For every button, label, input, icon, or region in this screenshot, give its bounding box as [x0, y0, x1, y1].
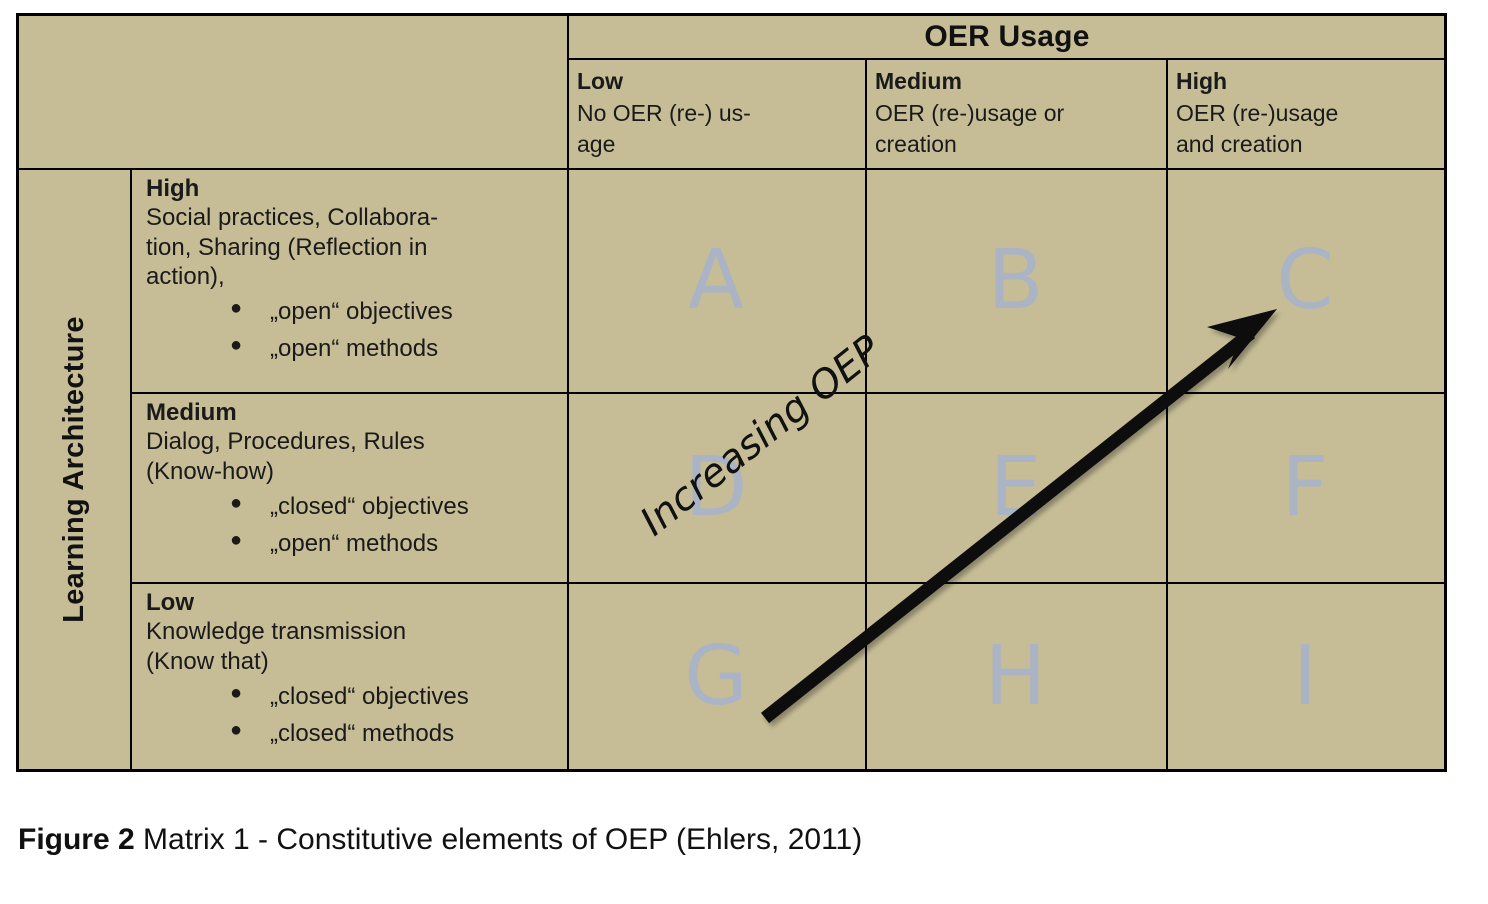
matrix-cell-a-label: A — [688, 240, 744, 322]
row-description-high: High Social practices, Collabora- tion, … — [132, 170, 567, 392]
row-low-line1: Knowledge transmission — [146, 617, 561, 646]
row-low-bullet-0: „closed“ objectives — [270, 683, 469, 710]
row-high-line2: tion, Sharing (Reflection in — [146, 233, 561, 262]
column-header-high-level: High — [1176, 66, 1436, 98]
row-low-level: Low — [146, 588, 561, 617]
column-header-medium: Medium OER (re-)usage or creation — [865, 64, 1166, 161]
row-medium-bullet-1: „open“ methods — [270, 530, 438, 557]
bullet-icon: ● — [230, 330, 242, 361]
matrix-cell-h[interactable]: H — [865, 584, 1166, 769]
bullet-icon: ● — [230, 525, 242, 556]
matrix-cell-d-label: D — [684, 447, 747, 529]
row-medium-bullet-0: „closed“ objectives — [270, 493, 469, 520]
matrix-cell-e[interactable]: E — [865, 394, 1166, 582]
matrix-cell-i[interactable]: I — [1166, 584, 1444, 769]
list-item: ● „open“ objectives — [146, 293, 561, 330]
figure-caption-text: Matrix 1 - Constitutive elements of OEP … — [135, 823, 863, 856]
row-high-line1: Social practices, Collabora- — [146, 203, 561, 232]
oep-matrix-table: OER Usage Low No OER (re-) us- age Mediu… — [16, 13, 1447, 772]
matrix-cell-a[interactable]: A — [567, 170, 865, 392]
matrix-cell-g-label: G — [684, 636, 748, 718]
row-high-bullet-list: ● „open“ objectives ● „open“ methods — [146, 293, 561, 367]
row-low-line2: (Know that) — [146, 647, 561, 676]
matrix-cell-e-label: E — [990, 447, 1042, 529]
column-axis-title: OER Usage — [567, 16, 1447, 58]
row-medium-line2: (Know-how) — [146, 457, 561, 486]
matrix-cell-c-label: C — [1276, 240, 1333, 322]
row-medium-bullet-list: ● „closed“ objectives ● „open“ methods — [146, 488, 561, 562]
column-header-low-desc-line2: age — [577, 129, 857, 161]
matrix-cell-h-label: H — [985, 636, 1047, 718]
column-header-low-desc-line1: No OER (re-) us- — [577, 98, 857, 130]
matrix-cell-d[interactable]: D — [567, 394, 865, 582]
bullet-icon: ● — [230, 293, 242, 324]
list-item: ● „open“ methods — [146, 525, 561, 562]
list-item: ● „open“ methods — [146, 330, 561, 367]
column-header-high-desc-line1: OER (re-)usage — [1176, 98, 1436, 130]
row-high-line3: action), — [146, 262, 561, 291]
row-axis-title-text: Learning Architecture — [58, 316, 91, 623]
list-item: ● „closed“ objectives — [146, 678, 561, 715]
row-low-bullet-1: „closed“ methods — [270, 720, 454, 747]
bullet-icon: ● — [230, 715, 242, 746]
column-header-high-desc-line2: and creation — [1176, 129, 1436, 161]
row-medium-line1: Dialog, Procedures, Rules — [146, 427, 561, 456]
rule-header-under-oer-usage — [567, 58, 1447, 60]
matrix-cell-f-label: F — [1281, 447, 1328, 529]
row-medium-level: Medium — [146, 398, 561, 427]
bullet-icon: ● — [230, 488, 242, 519]
row-high-bullet-1: „open“ methods — [270, 335, 438, 362]
matrix-cell-f[interactable]: F — [1166, 394, 1444, 582]
row-high-level: High — [146, 174, 561, 203]
figure-caption: Figure 2 Matrix 1 - Constitutive element… — [18, 823, 862, 857]
list-item: ● „closed“ methods — [146, 715, 561, 752]
column-header-medium-level: Medium — [875, 66, 1158, 98]
matrix-cell-c[interactable]: C — [1166, 170, 1444, 392]
row-low-bullet-list: ● „closed“ objectives ● „closed“ methods — [146, 678, 561, 752]
matrix-cell-b-label: B — [987, 240, 1043, 322]
column-header-low: Low No OER (re-) us- age — [567, 64, 865, 161]
column-header-high: High OER (re-)usage and creation — [1166, 64, 1444, 161]
row-high-bullet-0: „open“ objectives — [270, 298, 453, 325]
row-axis-title: Learning Architecture — [19, 170, 130, 769]
column-header-low-level: Low — [577, 66, 857, 98]
row-description-low: Low Knowledge transmission (Know that) ●… — [132, 584, 567, 769]
column-header-medium-desc-line2: creation — [875, 129, 1158, 161]
matrix-cell-b[interactable]: B — [865, 170, 1166, 392]
figure-root: OER Usage Low No OER (re-) us- age Mediu… — [0, 0, 1488, 904]
row-description-medium: Medium Dialog, Procedures, Rules (Know-h… — [132, 394, 567, 582]
figure-caption-label: Figure 2 — [18, 823, 135, 856]
matrix-cell-g[interactable]: G — [567, 584, 865, 769]
column-header-medium-desc-line1: OER (re-)usage or — [875, 98, 1158, 130]
bullet-icon: ● — [230, 678, 242, 709]
matrix-cell-i-label: I — [1293, 636, 1317, 718]
list-item: ● „closed“ objectives — [146, 488, 561, 525]
